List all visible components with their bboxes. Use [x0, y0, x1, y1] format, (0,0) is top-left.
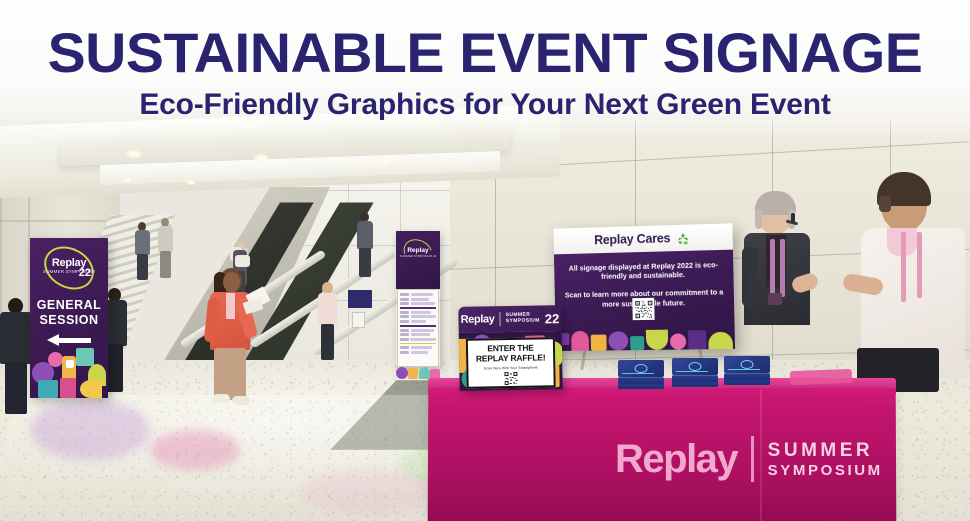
downlight-icon	[126, 150, 142, 158]
banner-line-2: SESSION	[39, 313, 98, 327]
raffle-line-2: REPLAY RAFFLE!	[468, 353, 553, 364]
general-session-banner: Replay SUMMER SYMPOSIUM 22 GENERAL SESSI…	[30, 238, 108, 398]
wall-notice-sign	[348, 290, 372, 308]
downlight-icon	[122, 178, 132, 183]
banner-line-1: GENERAL	[37, 298, 102, 312]
raffle-easel-sign: Replay SUMMER SYMPOSIUM 22 ENTER THE REP…	[458, 305, 562, 391]
left-arrow-icon	[47, 334, 91, 346]
badge	[768, 293, 782, 305]
replay-wordmark: Replay	[461, 313, 495, 326]
promotional-banner: Replay SUMMER SYMPOSIUM 22 GENERAL SESSI…	[0, 0, 970, 521]
logo-summer-text: SUMMER	[768, 441, 883, 460]
schedule-kiosk: Replay SUMMER SYMPOSIUM 22	[396, 231, 440, 367]
background-person	[316, 282, 340, 364]
downlight-icon	[378, 157, 394, 165]
logo-symposium-text: SYMPOSIUM	[506, 318, 540, 324]
booklet-stack[interactable]	[724, 356, 772, 386]
qr-code[interactable]	[504, 372, 517, 385]
attendee-reading-program	[200, 268, 266, 420]
raffle-subtext: Scan Here With Your Smartphone	[468, 365, 553, 370]
table-item	[790, 369, 852, 385]
replay-cares-sign: Replay Cares All signage displayed at Re…	[553, 223, 735, 351]
recycle-icon	[676, 231, 690, 244]
lanyard	[770, 239, 775, 297]
logo-symposium-text: SYMPOSIUM	[768, 463, 883, 478]
cares-sign-title: Replay Cares	[594, 231, 670, 247]
cares-paragraph-1: All signage displayed at Replay 2022 is …	[562, 260, 725, 282]
table-logo: Replay SUMMER SYMPOSIUM	[615, 428, 885, 490]
page-subtitle: Eco-Friendly Graphics for Your Next Gree…	[0, 88, 970, 122]
cares-sign-footer-graphic	[556, 327, 736, 351]
kiosk-header: Replay SUMMER SYMPOSIUM 22	[396, 231, 440, 289]
replay-wordmark: Replay	[615, 438, 737, 480]
logo-divider	[751, 436, 754, 482]
page-title: SUSTAINABLE EVENT SIGNAGE	[0, 24, 970, 82]
booklet-stack[interactable]	[672, 358, 720, 388]
floor-color-reflection	[150, 430, 240, 470]
logo-year: 22	[545, 311, 560, 326]
wall-poster-small	[352, 312, 365, 328]
attendee-shaking-hands	[855, 172, 970, 412]
downlight-icon	[253, 154, 269, 162]
floor-color-reflection	[30, 400, 150, 460]
background-person	[134, 222, 151, 282]
replay-year: 22	[79, 267, 91, 279]
banner-headline: GENERAL SESSION	[30, 298, 108, 328]
floor-color-reflection	[300, 470, 440, 515]
headset-earpiece-icon	[791, 213, 795, 223]
background-person	[235, 255, 251, 269]
qr-code[interactable]	[632, 298, 654, 320]
background-person	[157, 218, 174, 280]
lanyard	[901, 232, 906, 302]
banner-confetti-graphic	[30, 346, 108, 398]
kiosk-schedule-board	[397, 289, 439, 367]
background-person	[356, 212, 374, 278]
kiosk-tagline: SUMMER SYMPOSIUM 22	[396, 255, 440, 259]
replay-logo: Replay SUMMER SYMPOSIUM 22	[43, 248, 95, 288]
raffle-card: ENTER THE REPLAY RAFFLE! Scan Here With …	[466, 337, 556, 389]
easel-sign-header: Replay SUMMER SYMPOSIUM 22	[458, 305, 561, 333]
kiosk-replay-wordmark: Replay	[396, 247, 440, 254]
booklet-stack[interactable]	[618, 360, 666, 390]
